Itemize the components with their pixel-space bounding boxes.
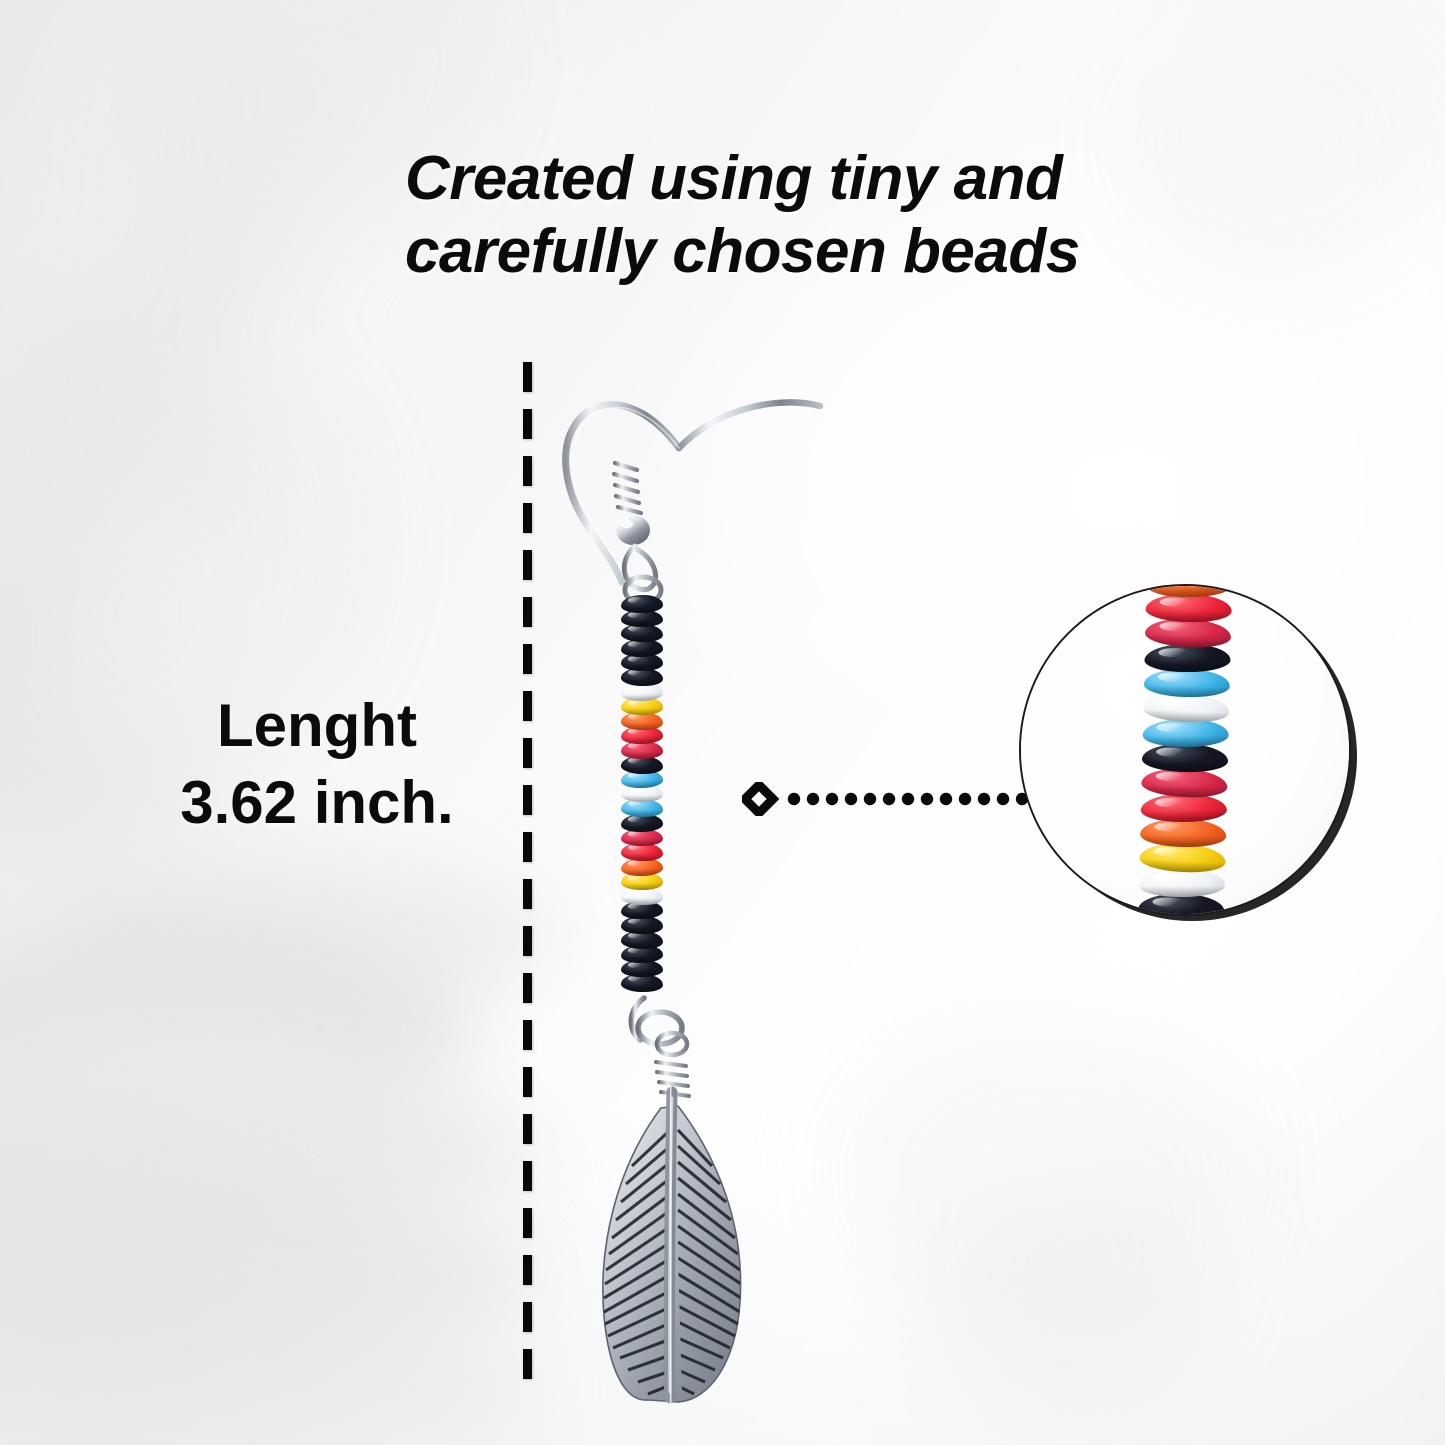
length-label-line-1: Lenght	[152, 688, 482, 765]
earring-svg	[560, 350, 890, 1420]
length-label-line-2: 3.62 inch.	[152, 765, 482, 842]
bead-black	[621, 916, 663, 934]
headline-text: Created using tiny and carefully chosen …	[405, 142, 1125, 288]
bead-strand	[612, 598, 672, 992]
ear-wire-hook	[566, 402, 820, 582]
bead-blue	[1144, 668, 1231, 698]
wire-coil	[614, 463, 641, 513]
bead-white	[1139, 869, 1225, 897]
feather-charm-pendant	[603, 1092, 741, 1402]
magnified-bead-strand	[1137, 584, 1232, 916]
bead-black	[621, 594, 663, 613]
measurement-dashed-line	[523, 362, 532, 1392]
bead-detail-magnifier	[1019, 584, 1351, 916]
bead-black	[1144, 644, 1230, 672]
diamond-marker-icon	[745, 785, 773, 813]
bead-red	[1145, 593, 1232, 623]
bead-orange	[1146, 584, 1232, 597]
bead-orange	[1140, 818, 1227, 848]
detail-connector-line	[742, 782, 1032, 816]
bead-black	[1142, 743, 1229, 773]
earring-product	[560, 350, 890, 1420]
product-image-canvas: Created using tiny and carefully chosen …	[0, 0, 1445, 1445]
wire-ball-bead	[616, 515, 650, 545]
headline-line-2: carefully chosen beads	[405, 215, 1125, 288]
bead-blue	[1143, 719, 1229, 747]
bead-red	[1141, 794, 1227, 822]
leader-dots	[788, 793, 1028, 805]
headline-line-1: Created using tiny and	[405, 142, 1125, 215]
lower-jump-ring	[631, 998, 687, 1055]
length-label: Lenght 3.62 inch.	[152, 688, 482, 842]
